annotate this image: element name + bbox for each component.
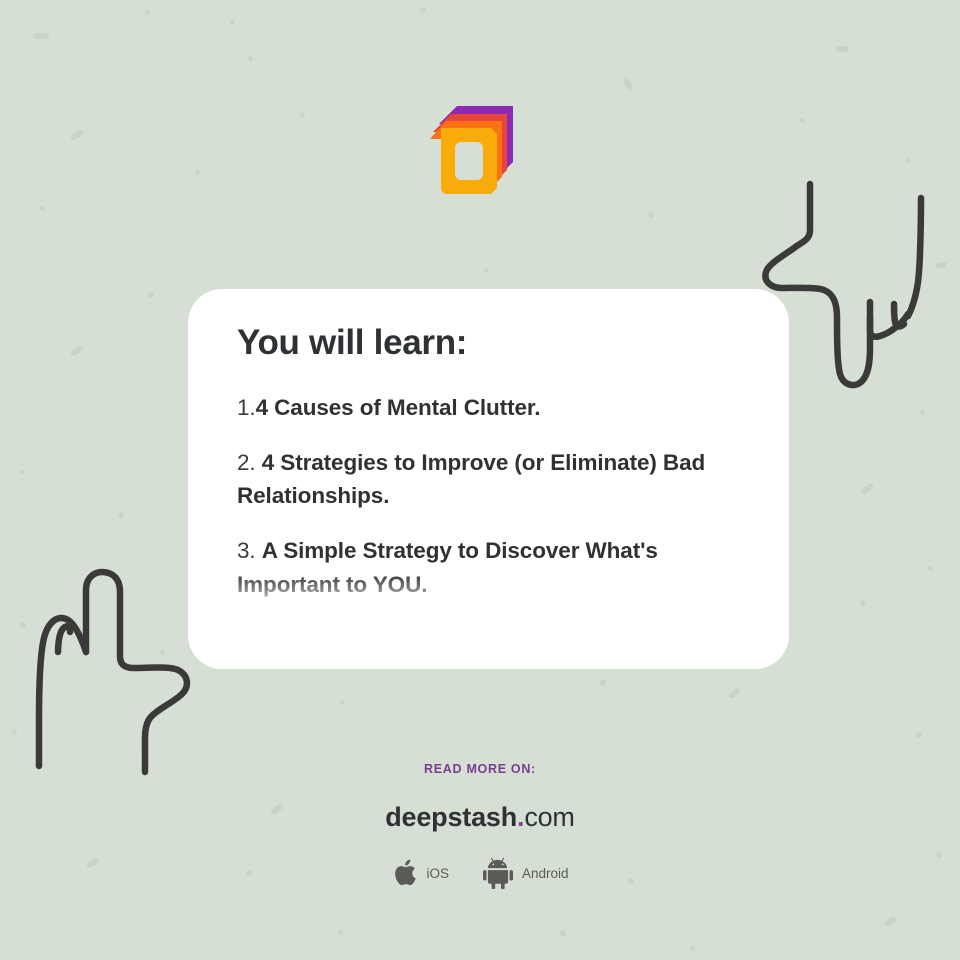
pointing-hand-up-doodle bbox=[24, 560, 204, 785]
brand-wordmark: deepstash.com bbox=[0, 802, 960, 833]
background-speckle bbox=[340, 700, 345, 705]
footer: READ MORE ON: deepstash.com iOS bbox=[0, 762, 960, 889]
brand-name: deepstash bbox=[385, 802, 517, 832]
background-speckle bbox=[883, 915, 897, 927]
background-speckle bbox=[600, 680, 606, 686]
card-content: You will learn: 1.4 Causes of Mental Clu… bbox=[188, 289, 789, 669]
deepstash-logo bbox=[429, 104, 517, 196]
list-item: 3. A Simple Strategy to Discover What's … bbox=[237, 534, 743, 600]
background-speckle bbox=[800, 118, 805, 123]
ios-badge[interactable]: iOS bbox=[391, 857, 449, 889]
android-badge[interactable]: Android bbox=[483, 857, 569, 889]
background-speckle bbox=[690, 946, 695, 951]
background-speckle bbox=[860, 482, 875, 495]
background-speckle bbox=[936, 262, 947, 269]
list-item-text: 4 Causes of Mental Clutter. bbox=[256, 395, 541, 420]
background-speckle bbox=[248, 56, 253, 61]
background-speckle bbox=[145, 10, 150, 15]
background-speckle bbox=[836, 46, 849, 53]
background-speckle bbox=[622, 77, 634, 90]
background-speckle bbox=[70, 128, 85, 141]
background-speckle bbox=[33, 33, 49, 40]
android-label: Android bbox=[522, 866, 569, 881]
background-speckle bbox=[928, 566, 933, 571]
page-title: You will learn: bbox=[237, 323, 743, 363]
background-speckle bbox=[12, 730, 17, 735]
background-speckle bbox=[148, 292, 154, 298]
list-item-text: 4 Strategies to Improve (or Eliminate) B… bbox=[237, 450, 705, 508]
background-speckle bbox=[728, 687, 742, 700]
background-speckle bbox=[195, 170, 200, 175]
background-speckle bbox=[648, 212, 654, 218]
background-speckle bbox=[905, 158, 910, 163]
list-item-number: 4. bbox=[237, 627, 256, 652]
list-item: 1.4 Causes of Mental Clutter. bbox=[237, 391, 743, 424]
list-item: 4. bbox=[237, 623, 743, 656]
list-item: 2. 4 Strategies to Improve (or Eliminate… bbox=[237, 446, 743, 512]
brand-tld: com bbox=[524, 802, 574, 832]
background-speckle bbox=[20, 470, 25, 475]
background-speckle bbox=[118, 512, 124, 518]
background-speckle bbox=[860, 600, 866, 606]
android-icon bbox=[483, 857, 513, 889]
list-item-number: 3. bbox=[237, 538, 256, 563]
background-speckle bbox=[338, 930, 343, 935]
background-speckle bbox=[40, 206, 45, 211]
list-item-number: 2. bbox=[237, 450, 256, 475]
ios-label: iOS bbox=[426, 866, 449, 881]
apple-icon bbox=[391, 857, 417, 889]
background-speckle bbox=[920, 410, 925, 415]
read-more-label: READ MORE ON: bbox=[0, 762, 960, 776]
list-item-text: A Simple Strategy to Discover What's Imp… bbox=[237, 538, 658, 596]
background-speckle bbox=[420, 8, 426, 13]
background-speckle bbox=[160, 650, 165, 655]
background-speckle bbox=[560, 930, 566, 936]
background-speckle bbox=[484, 268, 489, 273]
list-item-number: 1. bbox=[237, 395, 256, 420]
background-speckle bbox=[300, 112, 305, 117]
poster-canvas: You will learn: 1.4 Causes of Mental Clu… bbox=[0, 0, 960, 960]
app-store-badges: iOS Android bbox=[0, 857, 960, 889]
background-speckle bbox=[916, 732, 922, 738]
background-speckle bbox=[20, 622, 26, 628]
content-card: You will learn: 1.4 Causes of Mental Clu… bbox=[188, 289, 789, 669]
background-speckle bbox=[70, 345, 84, 358]
background-speckle bbox=[230, 20, 235, 25]
